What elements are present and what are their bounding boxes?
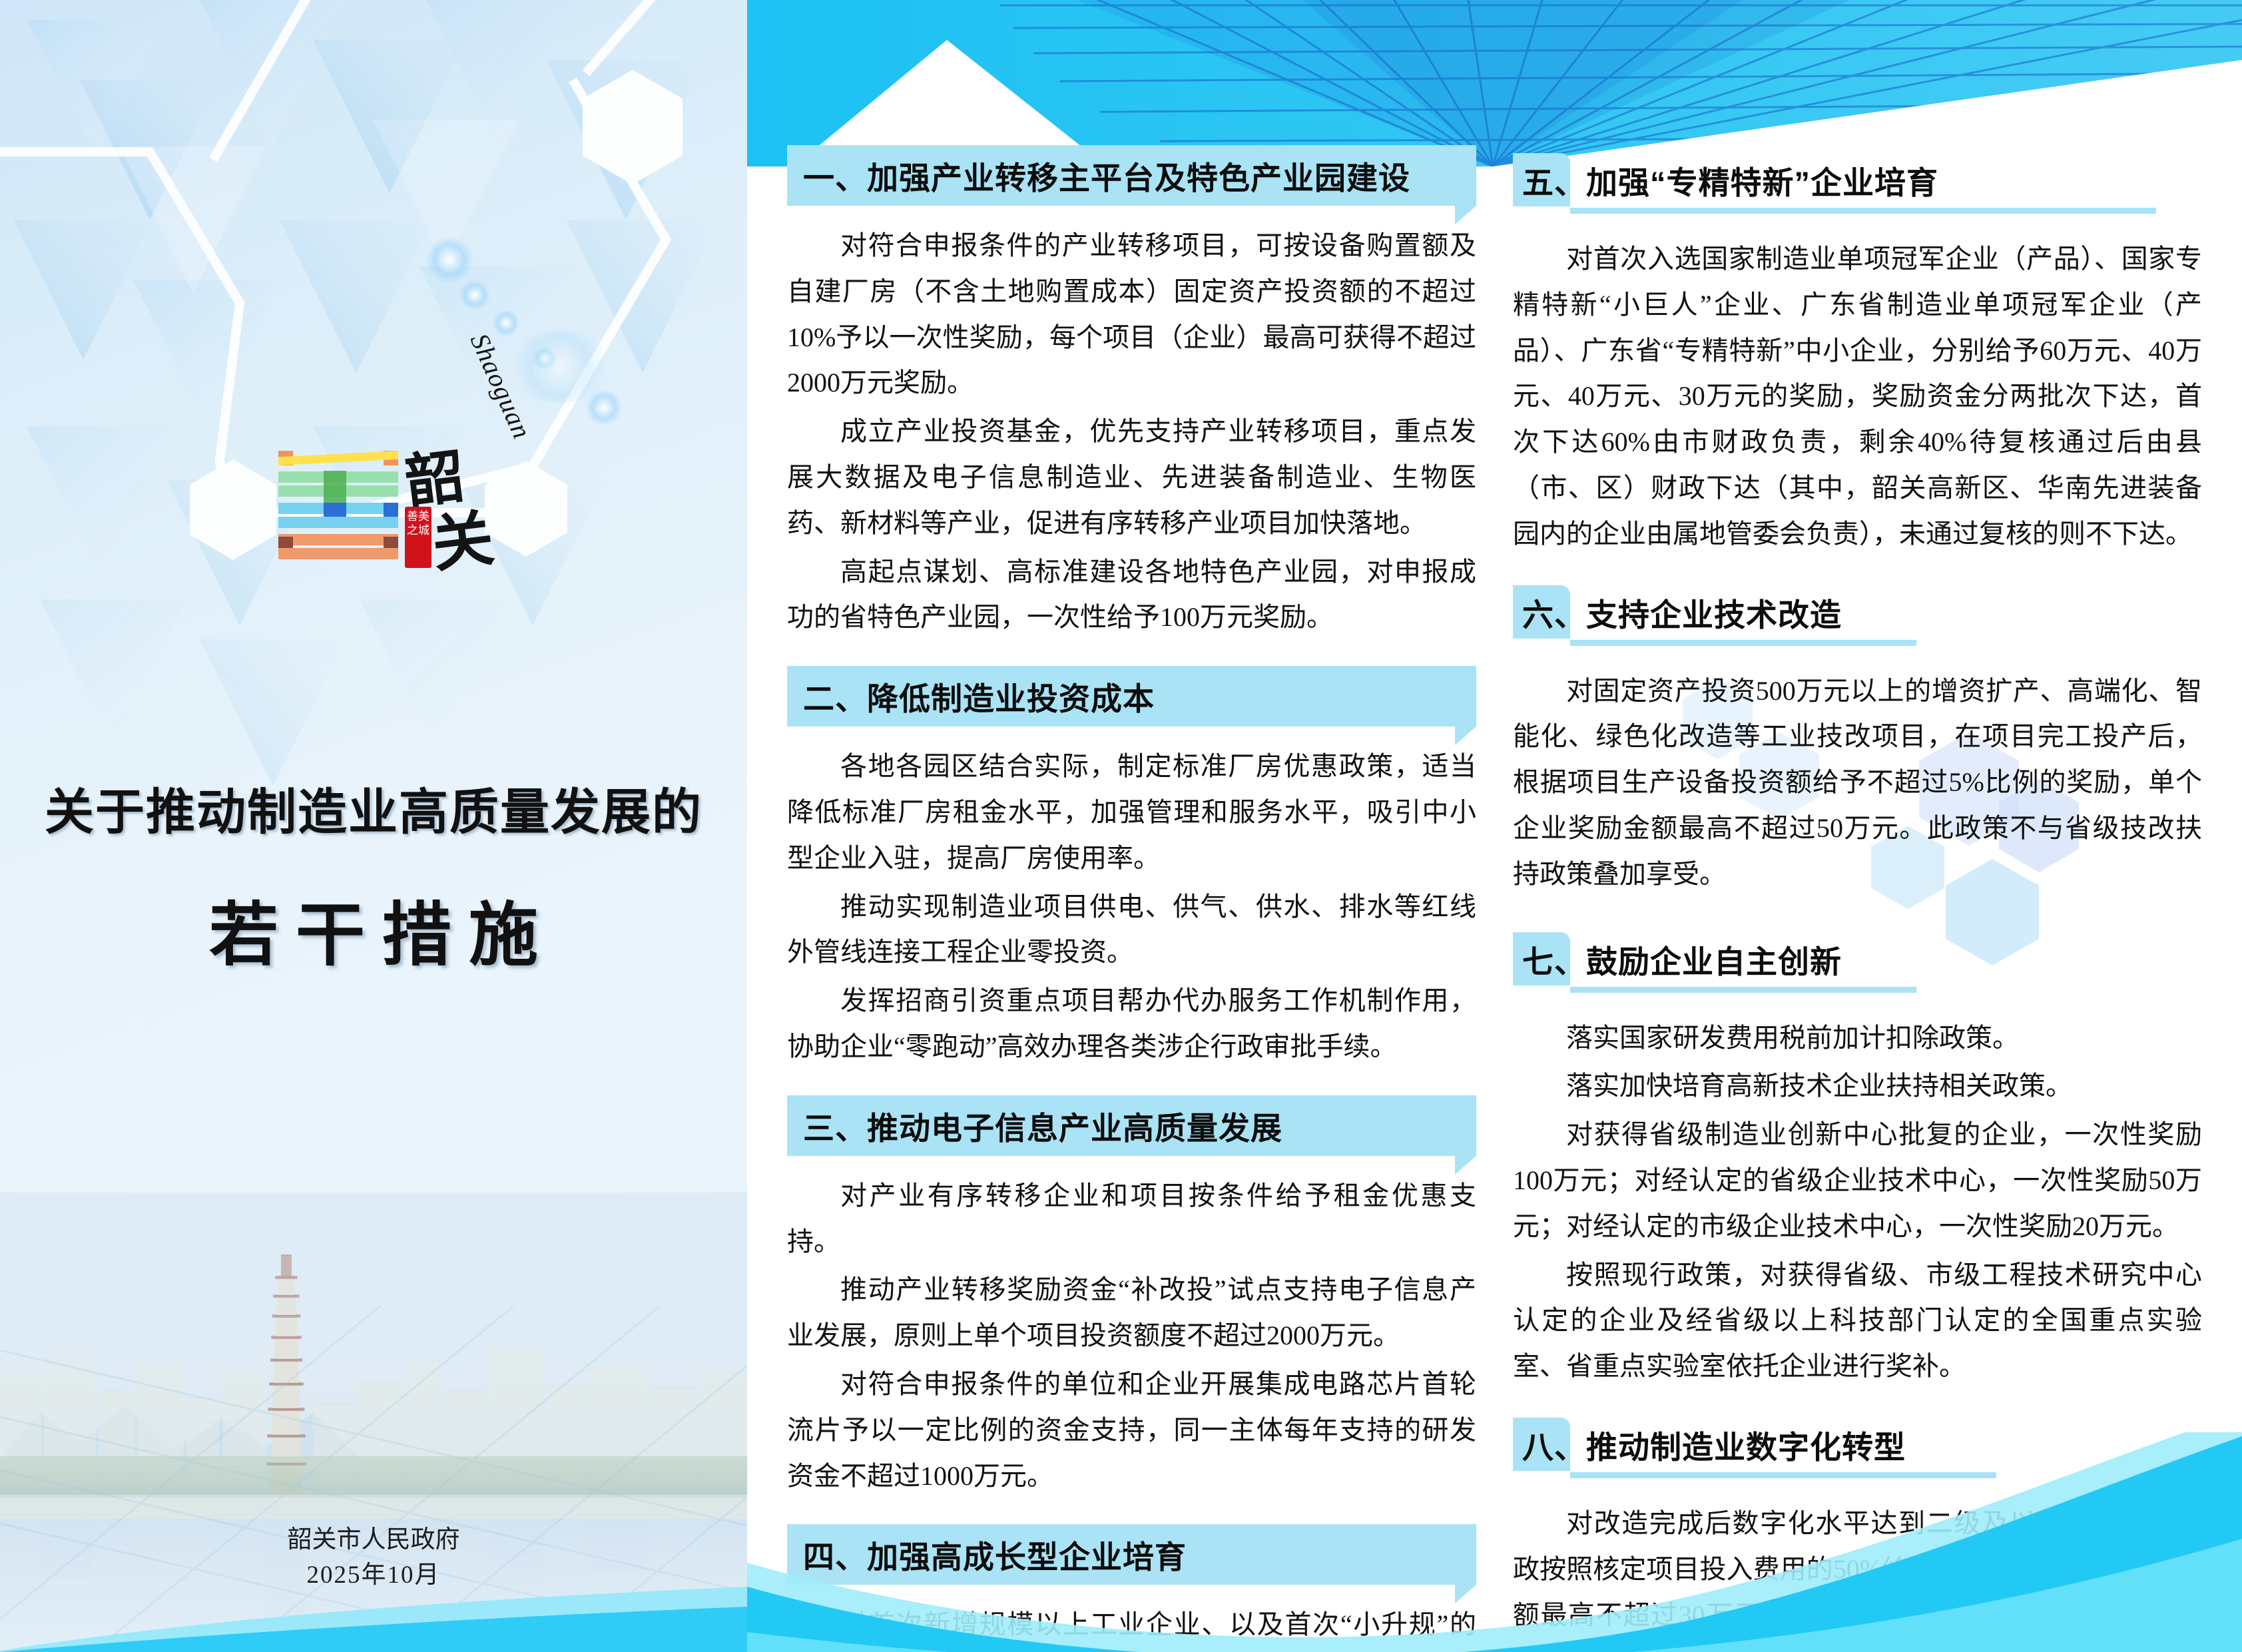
issuer-name: 韶关市人民政府	[0, 1522, 747, 1558]
section-4-paragraph-1: 对首次新增规模以上工业企业、以及首次“小升规”的工业企业分别给予10万元奖励。	[787, 1602, 1476, 1652]
section-7-paragraph-1: 落实国家研发费用税前加计扣除政策。	[1513, 1015, 2202, 1061]
cover-title-block: 关于推动制造业高质量发展的 若干措施	[0, 772, 747, 979]
section-header-3: 三、推动电子信息产业高质量发展	[787, 1095, 1476, 1156]
column-right: 五、加强“专精特新”企业培育 对首次入选国家制造业单项冠军企业（产品）、国家专精…	[1513, 0, 2202, 1652]
section-header-4: 四、加强高成长型企业培育	[787, 1524, 1476, 1585]
cover-panel: 韶 关 Shaoguan 善美之城 关于推动制造业高质量发展的 若干措施	[0, 0, 747, 1652]
section-number-5: 五、	[1522, 165, 1586, 200]
hexagon-network-decoration	[0, 0, 747, 786]
section-6-paragraph-1: 对固定资产投资500万元以上的增资扩产、高端化、智能化、绿色化改造等工业技改项目…	[1513, 669, 2202, 898]
glow-dot	[493, 310, 519, 336]
section-7-paragraph-2: 落实加快培育高新技术企业扶持相关政策。	[1513, 1063, 2202, 1109]
header-underline	[1570, 208, 2156, 214]
section-3-paragraph-3: 对符合申报条件的单位和企业开展集成电路芯片首轮流片予以一定比例的资金支持，同一主…	[787, 1362, 1476, 1499]
section-header-6: 六、支持企业技术改造	[1513, 589, 2202, 646]
section-header-2: 二、降低制造业投资成本	[787, 666, 1476, 726]
brochure-page: 韶 关 Shaoguan 善美之城 关于推动制造业高质量发展的 若干措施	[0, 0, 2242, 1652]
logo-calligraphy: 韶 关 Shaoguan 善美之城	[401, 428, 534, 571]
logo-seal: 善美之城	[405, 507, 431, 568]
column-middle: 一、加强产业转移主平台及特色产业园建设 对符合申报条件的产业转移项目，可按设备购…	[787, 0, 1476, 1652]
header-tail	[1455, 206, 1476, 224]
logo-color-bars	[278, 451, 398, 562]
section-heading-3: 三、推动电子信息产业高质量发展	[803, 1111, 1282, 1146]
section-header-5: 五、加强“专精特新”企业培育	[1513, 157, 2202, 214]
left-bottom-wave	[0, 1572, 747, 1652]
header-tail	[1455, 1156, 1476, 1175]
section-7-paragraph-4: 按照现行政策，对获得省级、市级工程技术研究中心认定的企业及经省级以上科技部门认定…	[1513, 1252, 2202, 1390]
section-2-paragraph-1: 各地各园区结合实际，制定标准厂房优惠政策，适当降低标准厂房租金水平，加强管理和服…	[787, 744, 1476, 881]
section-2-paragraph-2: 推动实现制造业项目供电、供气、供水、排水等红线外管线连接工程企业零投资。	[787, 884, 1476, 976]
section-heading-5: 加强“专精特新”企业培育	[1586, 165, 1938, 200]
section-5-paragraph-1: 对首次入选国家制造业单项冠军企业（产品）、国家专精特新“小巨人”企业、广东省制造…	[1513, 236, 2202, 557]
section-heading-1: 一、加强产业转移主平台及特色产业园建设	[803, 160, 1410, 196]
header-underline	[1570, 1472, 1996, 1478]
page-title-line2: 若干措施	[0, 878, 747, 979]
section-heading-4: 四、加强高成长型企业培育	[803, 1539, 1187, 1575]
section-heading-6: 支持企业技术改造	[1586, 597, 1842, 633]
section-number-8: 八、	[1522, 1430, 1586, 1465]
section-3-paragraph-1: 对产业有序转移企业和项目按条件给予租金优惠支持。	[787, 1173, 1476, 1265]
header-tail	[1455, 1585, 1476, 1603]
section-header-1: 一、加强产业转移主平台及特色产业园建设	[787, 145, 1476, 206]
section-heading-8: 推动制造业数字化转型	[1586, 1430, 1906, 1465]
section-3-paragraph-2: 推动产业转移奖励资金“补改投”试点支持电子信息产业发展，原则上单个项目投资额度不…	[787, 1267, 1476, 1359]
section-8-paragraph-1: 对改造完成后数字化水平达到二级及以上的，由市财政按照核定项目投入费用的50%给予…	[1513, 1501, 2202, 1652]
page-title-line1: 关于推动制造业高质量发展的	[0, 772, 747, 844]
logo-char-guan: 关	[426, 489, 498, 584]
section-number-7: 七、	[1522, 944, 1586, 979]
section-2-paragraph-3: 发挥招商引资重点项目帮办代办服务工作机制作用，协助企业“零跑动”高效办理各类涉企…	[787, 978, 1476, 1070]
section-heading-7: 鼓励企业自主创新	[1586, 944, 1842, 979]
section-header-7: 七、鼓励企业自主创新	[1513, 936, 2202, 993]
glow-dot	[459, 280, 490, 310]
glow-blob	[506, 330, 613, 403]
header-underline	[1570, 987, 1916, 993]
shaoguan-logo: 韶 关 Shaoguan 善美之城	[260, 423, 539, 576]
header-underline	[1570, 640, 1916, 646]
section-1-paragraph-3: 高起点谋划、高标准建设各地特色产业园，对申报成功的省特色产业园，一次性给予100…	[787, 549, 1476, 641]
content-area: 一、加强产业转移主平台及特色产业园建设 对符合申报条件的产业转移项目，可按设备购…	[747, 0, 2242, 1652]
section-header-8: 八、推动制造业数字化转型	[1513, 1422, 2202, 1478]
section-1-paragraph-2: 成立产业投资基金，优先支持产业转移项目，重点发展大数据及电子信息制造业、先进装备…	[787, 409, 1476, 546]
section-1-paragraph-1: 对符合申报条件的产业转移项目，可按设备购置额及自建厂房（不含土地购置成本）固定资…	[787, 223, 1476, 406]
glow-dot	[426, 236, 473, 283]
header-tail	[1455, 726, 1476, 745]
section-number-6: 六、	[1522, 597, 1586, 633]
section-7-paragraph-3: 对获得省级制造业创新中心批复的企业，一次性奖励100万元；对经认定的省级企业技术…	[1513, 1112, 2202, 1249]
section-heading-2: 二、降低制造业投资成本	[803, 681, 1155, 716]
